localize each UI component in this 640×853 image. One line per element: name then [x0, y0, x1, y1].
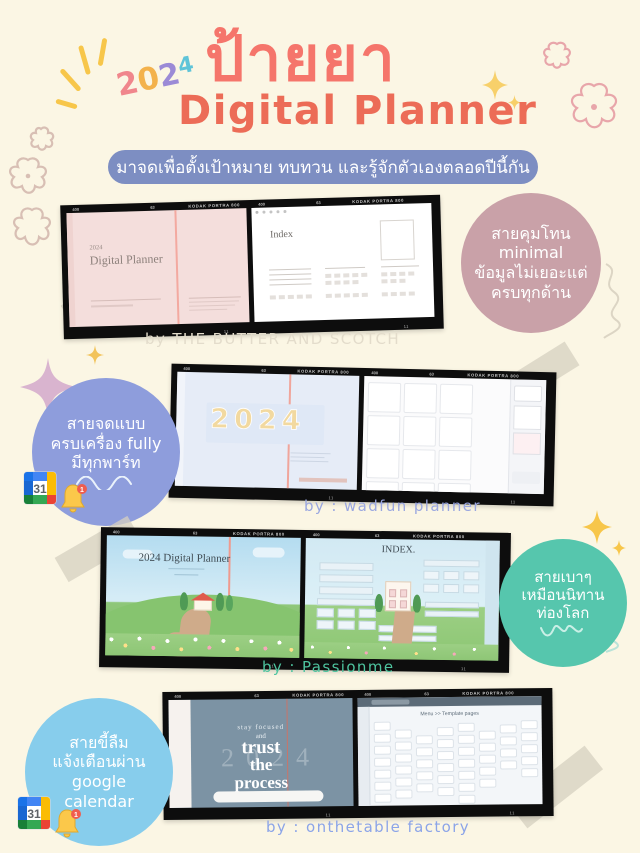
template-chip — [416, 735, 433, 744]
film-strip-3[interactable]: 400 63 KODAK PORTRA 800 400 63 KODAK POR… — [99, 527, 511, 673]
cover-text-line — [189, 309, 227, 311]
index-chip — [343, 280, 349, 284]
template-chip — [374, 758, 391, 767]
planner-cover-1[interactable]: 2024 Digital Planner — [66, 208, 249, 327]
film-frame-number-1b: 63 — [316, 200, 321, 205]
film-edge-code-2: 400 — [183, 365, 190, 370]
film-brand-label-1b: KODAK PORTRA 800 — [352, 197, 404, 203]
credit-line-3: by : Passionme — [262, 658, 394, 676]
film-frame-number-4: 63 — [254, 693, 259, 698]
index-chip — [325, 281, 331, 285]
template-chip — [374, 794, 391, 803]
bell-icon-4[interactable]: 1 — [52, 807, 82, 841]
index-grid-cell — [359, 621, 376, 630]
template-chip — [374, 746, 391, 755]
cover-note-line — [290, 456, 324, 458]
bell-icon-2[interactable]: 1 — [58, 482, 88, 516]
credit-line-1: by THE BUTTER AND SCOTCH — [145, 330, 400, 348]
film-edge-code-1: 400 — [72, 206, 79, 211]
index-grid-cell — [317, 608, 334, 617]
cover-title-3: 2024 Digital Planner — [138, 552, 230, 565]
index-thumbnail-box — [380, 219, 415, 260]
house-roof — [191, 592, 215, 600]
template-chip — [416, 747, 433, 756]
index-card — [319, 562, 373, 571]
film-frame-number-1: 63 — [150, 204, 155, 209]
badge-line: ครบทุกด้าน — [491, 283, 571, 303]
cover-note-line — [290, 460, 328, 462]
template-chip — [500, 760, 517, 769]
index-chip — [381, 272, 387, 276]
index-chip — [391, 292, 397, 296]
template-chip — [437, 787, 454, 796]
index-line — [269, 283, 311, 285]
film-edge-code-2b: 400 — [371, 370, 378, 375]
cover-text-line — [189, 300, 239, 303]
module-card — [403, 416, 437, 447]
index-grid-cell — [359, 609, 376, 618]
planner-cover-2[interactable]: 2024 — [175, 372, 360, 490]
building-window — [389, 600, 396, 608]
module-card — [401, 482, 435, 494]
cover-text-line — [189, 304, 235, 307]
index-line — [269, 278, 311, 280]
template-chip — [479, 731, 496, 740]
badge-line: สายขี้ลืม — [69, 733, 128, 753]
template-chip — [374, 770, 391, 779]
bell-badge-count: 1 — [80, 487, 84, 494]
template-chip — [521, 756, 538, 765]
module-card — [367, 415, 401, 446]
google-calendar-icon-2[interactable]: 31 — [20, 468, 60, 508]
index-chip — [399, 272, 405, 276]
film-edge-code-4: 400 — [174, 693, 181, 698]
page-sidebar-4 — [358, 707, 371, 806]
badge-line: ท่องโลก — [537, 604, 590, 622]
index-chip — [352, 280, 358, 284]
template-grid-4 — [374, 720, 539, 805]
squiggle-doodle-right-1 — [598, 262, 632, 340]
toolbar-dot — [269, 210, 272, 213]
template-chip — [416, 771, 433, 780]
index-chip — [381, 279, 387, 283]
badge-line: แจ้งเตือนผ่าน — [52, 752, 145, 772]
index-line — [325, 267, 365, 269]
module-card — [437, 483, 471, 494]
index-chip — [306, 294, 312, 298]
cover-year-1: 2024 — [89, 244, 102, 251]
template-chip — [521, 720, 538, 729]
film-strip-4[interactable]: 400 63 KODAK PORTRA 800 400 63 KODAK POR… — [162, 688, 553, 820]
credit-line-4: by : onthetable factory — [266, 818, 470, 836]
film-footer-code-3b: 11 — [461, 666, 466, 671]
subtitle-banner: มาจดเพื่อตั้งเป้าหมาย ทบทวน และรู้จักตัว… — [108, 150, 538, 184]
template-chip — [458, 795, 475, 804]
film-edge-code-3: 400 — [113, 529, 120, 534]
flower-field — [105, 633, 299, 658]
module-card — [365, 481, 399, 494]
cover-note-line — [291, 452, 331, 454]
cover-sub-line — [174, 574, 198, 575]
template-chip — [437, 739, 454, 748]
index-grid-cell — [423, 584, 439, 593]
sparkle-icon-mid-right-small — [612, 540, 626, 556]
index-chip — [270, 295, 276, 299]
index-card — [425, 611, 479, 618]
module-card — [440, 384, 474, 415]
module-card — [402, 449, 436, 480]
cover-divider-1b — [189, 296, 241, 298]
template-chip — [374, 734, 391, 743]
poster-canvas: 2024 ป้ายยา Digital Planner มาจดเพื่อตั้… — [0, 0, 640, 853]
cover-footer-strip — [299, 478, 347, 483]
sidebar-preview-card — [513, 405, 542, 430]
squiggle-underline-3 — [539, 625, 587, 638]
index-page-title-1: Index — [270, 229, 293, 241]
film-brand-label-2: KODAK PORTRA 800 — [297, 368, 349, 374]
badge-line: สายเบาๆ — [534, 568, 592, 586]
index-chip — [399, 279, 405, 283]
template-chip — [521, 768, 538, 777]
index-grid-cell — [338, 620, 355, 629]
house-body — [194, 599, 212, 610]
toolbar-dot — [283, 210, 286, 213]
index-chip — [326, 294, 332, 298]
film-footer-code-2b: 11 — [510, 499, 515, 504]
template-chip — [479, 779, 496, 788]
template-chip — [395, 729, 412, 738]
index-chip — [297, 295, 303, 299]
feature-badge-1: สายคุมโทน minimal ข้อมูลไม่เยอะแต่ ครบทุ… — [461, 193, 601, 333]
template-chip — [479, 767, 496, 776]
film-frame-number-3: 63 — [193, 530, 198, 535]
index-grid-cell — [463, 584, 479, 593]
index-chip — [334, 274, 340, 278]
badge-line: ข้อมูลไม่เยอะแต่ — [474, 263, 587, 283]
svg-text:1: 1 — [74, 812, 78, 819]
tree-shape — [226, 595, 233, 611]
toolbar-dot — [276, 210, 279, 213]
template-chip — [437, 775, 454, 784]
index-line — [381, 265, 419, 267]
film-footer-code-4b: 11 — [510, 810, 515, 815]
badge-line: สายคุมโทน — [491, 224, 570, 244]
template-chip — [437, 727, 454, 736]
film-edge-code-4b: 400 — [364, 691, 371, 696]
cover-text-line — [91, 304, 133, 307]
module-card — [438, 450, 472, 481]
planner-cover-4[interactable]: 2024 stay focused and trust the process — [168, 698, 353, 808]
index-card — [423, 560, 479, 568]
index-chip — [362, 293, 368, 297]
film-edge-code-1b: 400 — [258, 201, 265, 206]
badge-line: มีทุกพาร์ท — [71, 453, 140, 473]
index-card — [319, 586, 373, 595]
template-chip — [395, 777, 412, 786]
planner-cover-3[interactable]: 2024 Digital Planner — [105, 535, 301, 658]
index-chip — [382, 292, 388, 296]
index-chip — [343, 273, 349, 277]
index-grid-cell — [317, 620, 334, 629]
index-chip — [335, 294, 341, 298]
sidebar-preview-card — [513, 432, 541, 455]
module-card — [439, 417, 473, 448]
svg-text:31: 31 — [27, 807, 41, 821]
toolbar-dot — [255, 211, 258, 214]
index-grid-cell — [443, 584, 459, 593]
template-chip — [458, 759, 475, 768]
module-card — [404, 383, 438, 414]
index-chip — [334, 281, 340, 285]
template-chip — [395, 741, 412, 750]
badge-line: เหมือนนิทาน — [522, 586, 605, 604]
template-chip — [479, 743, 496, 752]
index-line — [269, 268, 311, 270]
planner-index-page-1[interactable]: Index — [251, 203, 434, 322]
index-chip — [288, 295, 294, 299]
index-card — [425, 602, 479, 609]
index-grid-cell — [463, 571, 479, 580]
template-chip — [458, 723, 475, 732]
toolbar-dot — [262, 211, 265, 214]
svg-text:31: 31 — [33, 482, 47, 496]
template-chip — [437, 763, 454, 772]
film-brand-label-4b: KODAK PORTRA 800 — [462, 690, 514, 696]
sparkle-icon-above-row2 — [86, 345, 104, 365]
planner-index-page-2[interactable] — [362, 376, 547, 494]
index-chip — [344, 293, 350, 297]
index-chip — [400, 292, 406, 296]
template-chip — [521, 732, 538, 741]
film-brand-label-2b: KODAK PORTRA 800 — [467, 372, 519, 378]
template-chip — [500, 736, 517, 745]
index-chip — [390, 279, 396, 283]
index-grid-cell — [443, 571, 459, 580]
template-chip — [395, 753, 412, 762]
film-brand-label-1: KODAK PORTRA 800 — [188, 202, 240, 208]
template-chip — [479, 755, 496, 764]
index-chip — [361, 273, 367, 277]
index-line — [269, 273, 311, 275]
building-window — [389, 589, 396, 597]
cover-sub-line — [168, 568, 204, 570]
building-window — [400, 600, 407, 608]
planner-template-page-4[interactable]: Menu >> Template pages — [357, 696, 542, 806]
index-grid-cell — [423, 571, 439, 580]
film-brand-label-3: KODAK PORTRA 800 — [233, 530, 285, 536]
credit-line-2: by : wadfun planner — [304, 497, 481, 515]
template-chip — [374, 722, 391, 731]
film-strip-1[interactable]: 400 63 KODAK PORTRA 800 400 63 KODAK POR… — [60, 195, 444, 340]
template-chip — [374, 782, 391, 791]
toolbar-title-chip — [371, 699, 409, 704]
cover-title-1: Digital Planner — [90, 251, 163, 268]
film-frame-number-3b: 63 — [375, 532, 380, 537]
index-chip — [409, 291, 415, 295]
template-chip — [458, 771, 475, 780]
google-calendar-icon-4[interactable]: 31 — [14, 793, 54, 833]
page-title-english: Digital Planner — [178, 88, 537, 134]
index-chip — [279, 295, 285, 299]
index-chip — [353, 293, 359, 297]
sparkle-icon-mid-right — [582, 510, 612, 544]
tree-shape — [180, 592, 188, 610]
cover-year-2: 2024 — [210, 404, 306, 437]
template-chip — [500, 724, 517, 733]
sidebar-preview-card — [514, 385, 542, 402]
index-grid-cell — [338, 608, 355, 617]
flower-doodle-bottom-left — [10, 205, 54, 251]
template-chip — [458, 747, 475, 756]
index-card — [317, 598, 375, 606]
badge-line: google — [72, 772, 126, 792]
subtitle-text: มาจดเพื่อตั้งเป้าหมาย ทบทวน และรู้จักตัว… — [116, 154, 529, 181]
feature-badge-3: สายเบาๆ เหมือนนิทาน ท่องโลก — [499, 539, 627, 667]
template-chip — [395, 765, 412, 774]
planner-index-page-3[interactable]: INDEX. — [304, 538, 500, 661]
film-frame-number-2b: 63 — [429, 371, 434, 376]
index-chip — [408, 271, 414, 275]
badge-line: สายจดแบบ — [67, 414, 146, 434]
index-chip — [390, 272, 396, 276]
template-chip — [416, 759, 433, 768]
building-window — [400, 589, 407, 597]
sidebar-preview-card — [512, 471, 540, 484]
module-card — [368, 382, 402, 413]
film-footer-code-4: 11 — [326, 812, 331, 817]
template-chip — [416, 783, 433, 792]
film-brand-label-4: KODAK PORTRA 800 — [292, 692, 344, 698]
tree-shape — [216, 593, 224, 611]
cover-button-bar-4[interactable] — [213, 790, 323, 802]
cloud-shape — [253, 547, 285, 557]
film-frame-number-4b: 63 — [424, 691, 429, 696]
film-strip-2[interactable]: 400 63 KODAK PORTRA 800 400 63 KODAK POR… — [169, 364, 557, 507]
template-chip — [521, 744, 538, 753]
template-chip — [395, 789, 412, 798]
module-card — [366, 448, 400, 479]
index-page-title-3: INDEX. — [382, 544, 416, 555]
film-brand-label-3b: KODAK PORTRA 800 — [413, 533, 465, 539]
template-chip — [437, 751, 454, 760]
tree-shape — [375, 594, 383, 612]
index-chip — [352, 273, 358, 277]
template-chip — [500, 748, 517, 757]
film-frame-number-2: 63 — [261, 367, 266, 372]
tree-shape — [413, 595, 421, 613]
template-page-heading: Menu >> Template pages — [358, 710, 542, 718]
badge-line: minimal — [499, 243, 563, 263]
cover-divider-1 — [91, 299, 161, 302]
film-footer-code-1b: 11 — [404, 323, 409, 328]
template-chip — [458, 783, 475, 792]
badge-line: ครบเครื่อง fully — [51, 434, 162, 454]
index-card — [319, 574, 373, 583]
template-chip — [458, 735, 475, 744]
poster-header: 2024 ป้ายยา Digital Planner มาจดเพื่อตั้… — [0, 0, 640, 190]
index-chip — [325, 274, 331, 278]
film-edge-code-3b: 400 — [313, 532, 320, 537]
